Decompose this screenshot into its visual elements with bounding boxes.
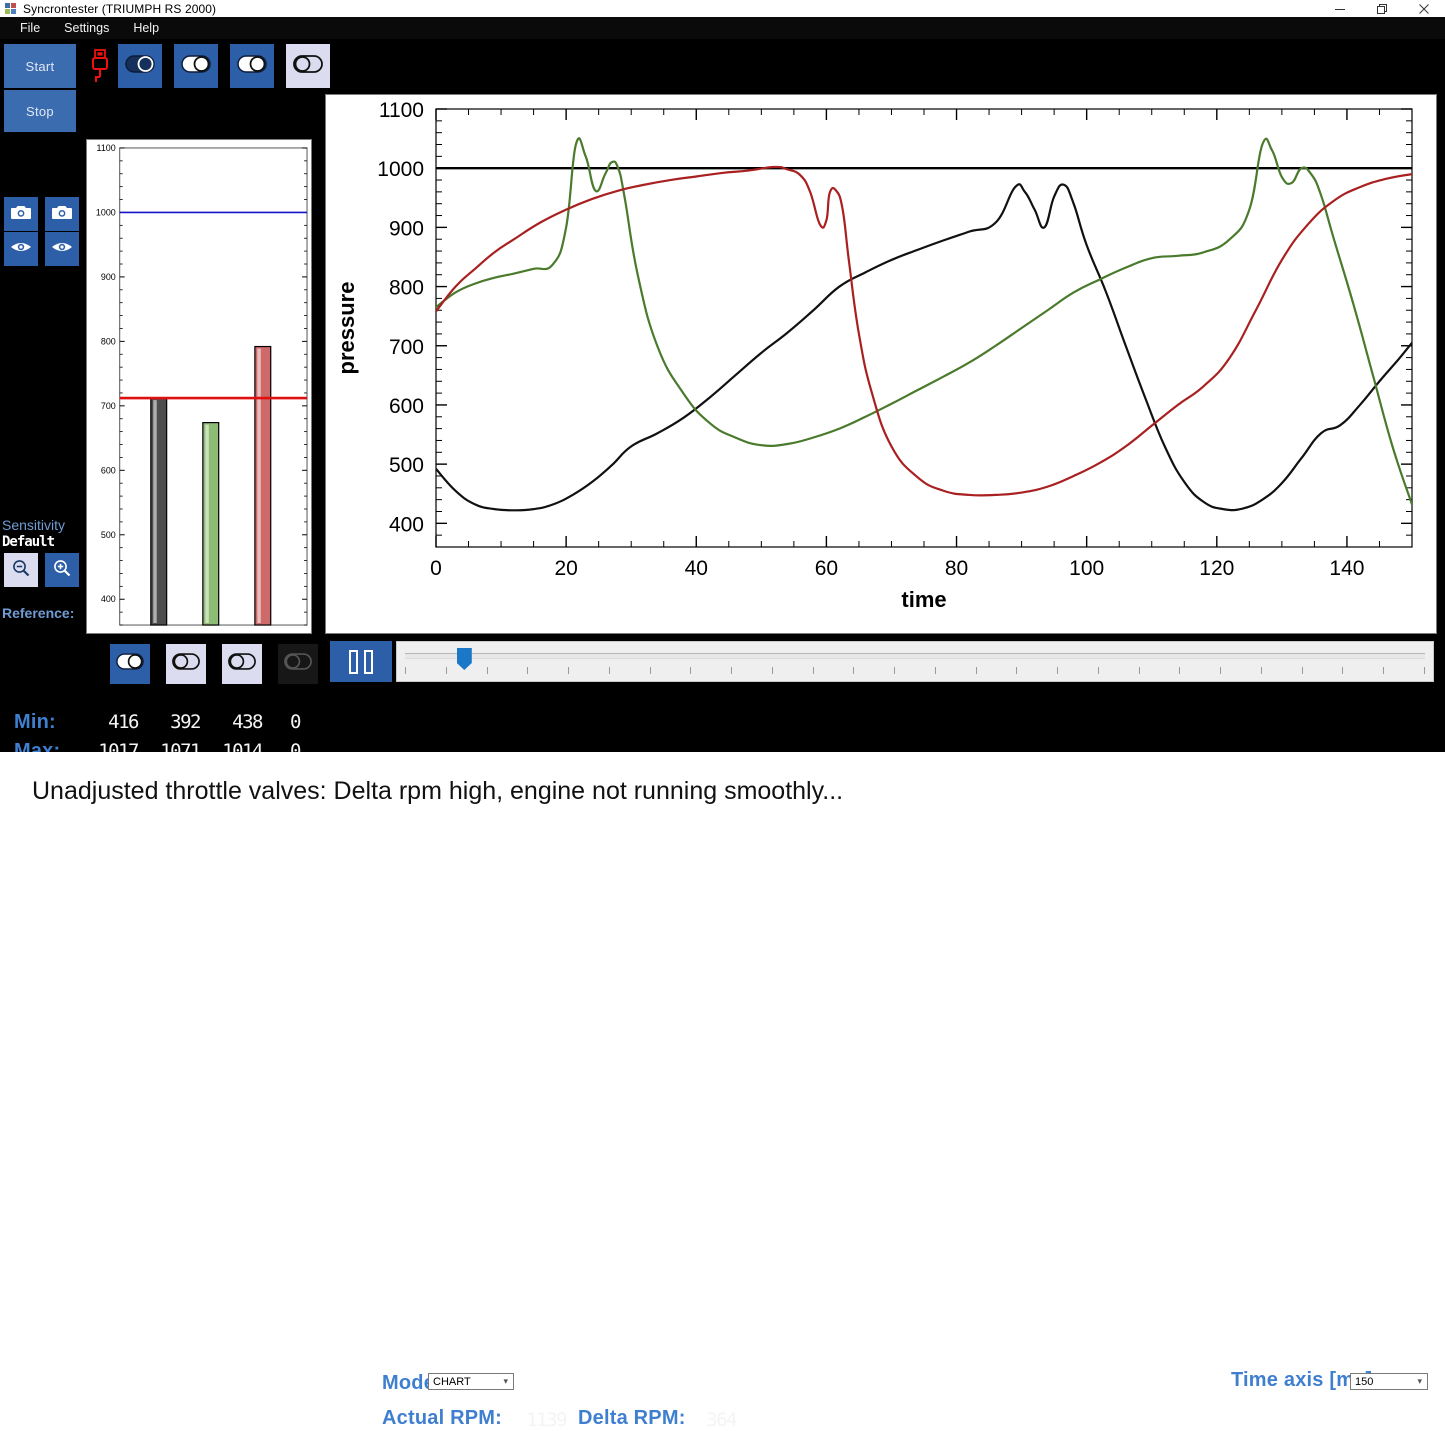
ref-toggle-4[interactable] (278, 644, 318, 684)
title-bar: Syncrontester (TRIUMPH RS 2000) (0, 0, 1445, 17)
time-axis-select-value: 150 (1355, 1376, 1373, 1388)
svg-text:20: 20 (554, 557, 577, 580)
minimize-icon[interactable] (1319, 0, 1361, 17)
mode-select[interactable]: CHART ▾ (428, 1373, 514, 1390)
pressure-time-chart: 4005006007008009001000110002040608010012… (326, 95, 1436, 633)
toggle-switch-icon (172, 653, 200, 675)
svg-text:800: 800 (101, 336, 116, 346)
svg-text:1100: 1100 (379, 99, 424, 122)
reference-label: Reference: (2, 605, 74, 621)
menu-item-file[interactable]: File (8, 18, 52, 38)
svg-text:100: 100 (1069, 557, 1104, 580)
ref-toggle-1[interactable] (110, 644, 150, 684)
svg-text:80: 80 (945, 557, 968, 580)
toggle-switch-icon (237, 55, 267, 78)
svg-text:pressure: pressure (334, 282, 359, 375)
close-icon[interactable] (1403, 0, 1445, 17)
start-button[interactable]: Start (4, 44, 76, 88)
mode-select-value: CHART (433, 1376, 471, 1388)
svg-text:400: 400 (101, 594, 116, 604)
stat-value: 416 (76, 711, 138, 733)
toggle-switch-icon (293, 55, 323, 78)
pause-button[interactable] (330, 641, 392, 682)
svg-text:1000: 1000 (377, 158, 424, 181)
svg-text:400: 400 (389, 513, 424, 536)
toggle-channel-4[interactable] (286, 44, 330, 88)
svg-text:60: 60 (815, 557, 838, 580)
menu-item-help[interactable]: Help (121, 18, 171, 38)
zoom-out-icon (11, 558, 31, 583)
zoom-in-icon (52, 558, 72, 583)
zoom-out-button[interactable] (4, 553, 38, 587)
svg-text:700: 700 (101, 401, 116, 411)
stop-button[interactable]: Stop (4, 90, 76, 132)
ref-toggle-2[interactable] (166, 644, 206, 684)
svg-text:500: 500 (101, 530, 116, 540)
svg-text:time: time (901, 587, 946, 612)
camera-icon (11, 204, 31, 225)
svg-text:700: 700 (389, 336, 424, 359)
slider-tick-marks (405, 667, 1425, 674)
bar-cylinder-1 (151, 398, 167, 625)
svg-text:900: 900 (389, 217, 424, 240)
sensitivity-value: Default (2, 534, 54, 550)
app-body: Start Stop (0, 39, 1445, 831)
toggle-switch-icon (125, 55, 155, 78)
svg-text:800: 800 (389, 277, 424, 300)
svg-text:40: 40 (685, 557, 708, 580)
toggle-switch-icon (284, 653, 312, 675)
svg-text:600: 600 (101, 465, 116, 475)
svg-text:1000: 1000 (96, 207, 116, 217)
time-axis-select[interactable]: 150 ▾ (1350, 1373, 1428, 1390)
toggle-switch-icon (116, 653, 144, 675)
app-icon (5, 3, 17, 14)
pause-icon (349, 650, 373, 674)
maximize-icon[interactable] (1361, 0, 1403, 17)
stat-value: 0 (262, 711, 300, 733)
svg-text:1100: 1100 (97, 143, 116, 153)
toggle-switch-icon (181, 55, 211, 78)
menu-item-settings[interactable]: Settings (52, 18, 121, 38)
stat-value: 392 (138, 711, 200, 733)
toggle-channel-3[interactable] (230, 44, 274, 88)
chevron-down-icon: ▾ (503, 1376, 508, 1387)
zoom-in-button[interactable] (45, 553, 79, 587)
actual-rpm-value: 1139 (508, 1409, 566, 1431)
stat-label: Min: (14, 711, 76, 734)
eye-icon (51, 240, 73, 259)
snapshot-button-2[interactable] (45, 197, 79, 231)
left-control-column: Start Stop (0, 39, 82, 639)
stat-row-min: Min: 416 392 438 0 (14, 711, 300, 734)
caption-text: Unadjusted throttle valves: Delta rpm hi… (32, 777, 843, 806)
usb-status-icon (84, 44, 116, 88)
chevron-down-icon: ▾ (1417, 1376, 1422, 1387)
svg-text:600: 600 (389, 395, 424, 418)
caption-bar: Unadjusted throttle valves: Delta rpm hi… (0, 752, 1445, 831)
window-title: Syncrontester (TRIUMPH RS 2000) (23, 2, 216, 16)
snapshot-button-1[interactable] (4, 197, 38, 231)
average-bar-chart-panel: 40050060070080090010001100 (86, 139, 312, 634)
average-bar-chart: 40050060070080090010001100 (87, 140, 311, 633)
menu-bar: File Settings Help (0, 17, 1445, 39)
slider-track[interactable] (405, 653, 1425, 659)
toggle-switch-icon (228, 653, 256, 675)
svg-text:900: 900 (101, 272, 116, 282)
camera-icon (52, 204, 72, 225)
delta-rpm-value: 364 (688, 1409, 736, 1431)
svg-text:500: 500 (389, 454, 424, 477)
delta-rpm-label: Delta RPM: (578, 1407, 686, 1430)
timeline-slider[interactable] (396, 641, 1434, 682)
svg-text:120: 120 (1199, 557, 1234, 580)
bar-cylinder-3 (255, 347, 271, 626)
actual-rpm-label: Actual RPM: (382, 1407, 502, 1430)
svg-text:140: 140 (1329, 557, 1364, 580)
sensitivity-label: Sensitivity (2, 517, 65, 533)
ref-toggle-3[interactable] (222, 644, 262, 684)
pressure-time-chart-panel: 4005006007008009001000110002040608010012… (325, 94, 1437, 634)
toggle-channel-2[interactable] (174, 44, 218, 88)
stat-value: 438 (200, 711, 262, 733)
bar-cylinder-2 (203, 423, 219, 625)
view-button-2[interactable] (45, 232, 79, 266)
toggle-channel-1[interactable] (118, 44, 162, 88)
eye-icon (10, 240, 32, 259)
view-button-1[interactable] (4, 232, 38, 266)
svg-text:0: 0 (430, 557, 442, 580)
